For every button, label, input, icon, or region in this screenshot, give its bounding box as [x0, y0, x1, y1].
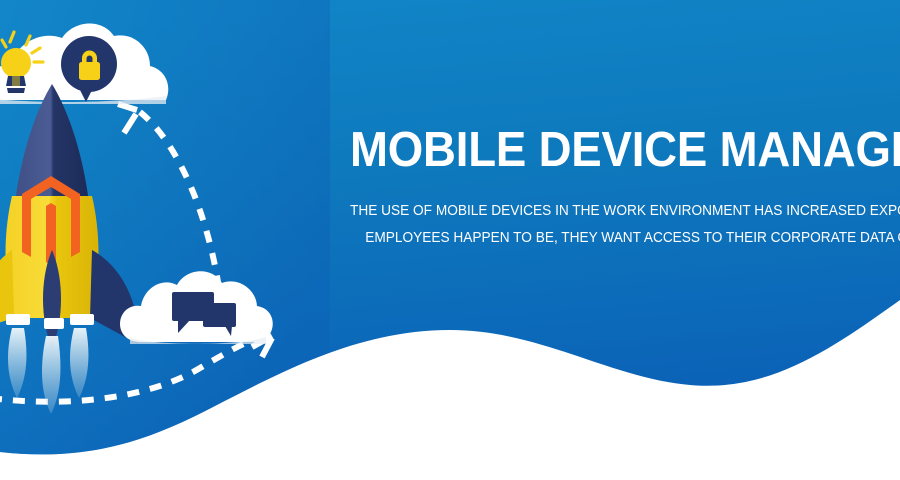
dashed-curve-upper — [118, 104, 218, 282]
banner-subcopy: THE USE OF MOBILE DEVICES IN THE WORK EN… — [350, 178, 900, 251]
dashed-curve-lower — [0, 336, 272, 402]
exhaust-plume-right — [70, 328, 88, 398]
banner-text-block: MOBILE DEVICE MANAGEMENT THE USE OF MOBI… — [350, 122, 900, 251]
subcopy-line-2: EMPLOYEES HAPPEN TO BE, THEY WANT ACCESS… — [350, 224, 900, 251]
cloud-bottom — [120, 271, 273, 344]
rocket — [0, 84, 138, 414]
subcopy-line-1: THE USE OF MOBILE DEVICES IN THE WORK EN… — [350, 197, 900, 224]
page-title: MOBILE DEVICE MANAGEMENT — [350, 122, 900, 178]
mobile-device-management-banner: MOBILE DEVICE MANAGEMENT THE USE OF MOBI… — [0, 0, 900, 480]
exhaust-plume-left — [8, 328, 26, 398]
